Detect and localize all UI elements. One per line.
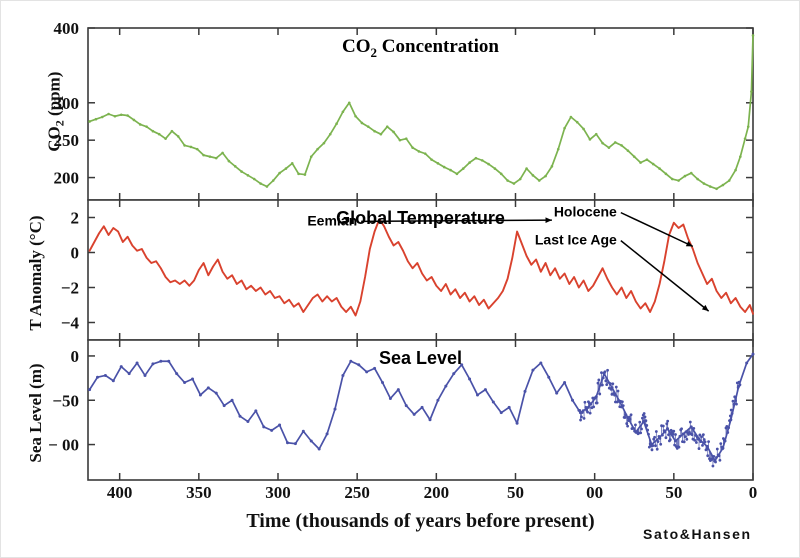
series-point-sealevel [500,411,503,414]
series-point-sealevel [476,393,479,396]
panel-title-sealevel: Sea Level [379,348,462,368]
series-point-co2 [525,167,528,170]
series-point-co2 [671,178,674,181]
series-point-sealevel [151,362,154,365]
series-point-co2 [652,163,655,166]
series-point-co2 [266,185,269,188]
series-point-sealevel [349,360,352,363]
annotation-label-0: Eemian [307,212,357,228]
series-point-co2 [101,116,104,119]
series-point-co2 [316,148,319,151]
series-point-sealevel [508,406,511,409]
ytick-label-temperature-3: −4 [61,314,80,333]
series-point-co2 [247,174,250,177]
series-point-co2 [532,174,535,177]
series-point-co2 [608,146,611,149]
series-point-co2 [323,142,326,145]
series-point-co2 [177,135,180,138]
ytick-label-sealevel-0: 0 [71,347,80,366]
series-point-co2 [120,113,123,116]
series-point-co2 [443,166,446,169]
series-point-sealevel [207,386,210,389]
series-point-co2 [595,133,598,136]
series-point-sealevel [239,415,242,418]
series-point-co2 [684,175,687,178]
series-point-co2 [500,173,503,176]
series-point-co2 [538,179,541,182]
series-point-co2 [107,113,110,116]
series-point-co2 [386,125,389,128]
series-point-co2 [744,137,747,140]
series-point-sealevel [112,379,115,382]
series-point-sealevel [294,442,297,445]
series-point-co2 [513,182,516,185]
annotation-label-2: Last Ice Age [535,232,617,248]
series-point-co2 [285,167,288,170]
ytick-label-co2-0: 400 [54,19,80,38]
series-point-co2 [696,178,699,181]
co2-axis-label-unit: (ppm) [44,72,63,121]
series-point-sealevel [531,369,534,372]
series-point-co2 [468,161,471,164]
series-point-co2 [209,155,212,158]
series-point-co2 [722,184,725,187]
series-point-co2 [633,155,636,158]
series-point-sealevel [429,418,432,421]
series-point-sealevel [96,376,99,379]
series-point-co2 [240,170,243,173]
series-point-co2 [202,154,205,157]
xtick-label-6: 00 [586,483,603,502]
panel-title-temperature: Global Temperature [336,208,505,228]
series-point-co2 [272,179,275,182]
series-point-co2 [752,34,755,37]
series-point-co2 [620,144,623,147]
series-point-sealevel [484,388,487,391]
series-point-sealevel [444,385,447,388]
series-point-co2 [221,152,224,155]
series-point-sealevel [492,401,495,404]
panel-title-co2: CO2 Concentration [342,36,499,60]
series-point-sealevel [413,413,416,416]
series-point-co2 [126,114,129,117]
series-point-co2 [399,139,402,142]
series-point-sealevel [167,360,170,363]
ytick-label-sealevel-1: −50 [52,391,79,410]
series-point-co2 [646,158,649,161]
series-point-sealevel [745,362,748,365]
series-point-co2 [481,159,484,162]
series-point-sealevel [341,374,344,377]
series-point-co2 [411,146,414,149]
paleoclimate-chart: 400300250200CO2 Concentration20−2−4Globa… [0,0,800,558]
series-point-co2 [354,115,357,118]
series-point-co2 [380,133,383,136]
panel-temperature: 20−2−4Global TemperatureEemianHoloceneLa… [61,200,753,340]
series-point-sealevel [436,399,439,402]
series-point-co2 [557,148,560,151]
series-point-co2 [739,155,742,158]
series-point-co2 [278,172,281,175]
series-point-sealevel [144,374,147,377]
series-point-sealevel [357,363,360,366]
series-point-sealevel [310,440,313,443]
series-point-co2 [506,179,509,182]
series-point-sealevel [159,360,162,363]
figure-container: 400300250200CO2 Concentration20−2−4Globa… [0,0,800,558]
series-point-co2 [171,130,174,133]
series-point-co2 [715,187,718,190]
series-point-sealevel [326,432,329,435]
series-point-co2 [734,169,737,172]
xtick-label-1: 350 [186,483,212,502]
series-point-sealevel [334,408,337,411]
ytick-label-temperature-1: 0 [71,244,80,263]
series-point-sealevel [365,370,368,373]
xtick-label-3: 250 [344,483,370,502]
series-point-co2 [183,144,186,147]
series-point-co2 [709,185,712,188]
series-point-sealevel [389,397,392,400]
ytick-label-temperature-0: 2 [71,209,80,228]
series-point-sealevel [563,381,566,384]
series-point-co2 [152,130,155,133]
series-point-sealevel [199,393,202,396]
series-point-co2 [430,158,433,161]
series-point-sealevel [381,381,384,384]
series-point-sealevel [136,362,139,365]
series-point-co2 [114,115,117,118]
series-point-co2 [405,137,408,140]
series-point-sealevel [286,441,289,444]
series-point-co2 [614,141,617,144]
series-point-co2 [95,118,98,121]
series-point-co2 [329,133,332,136]
series-point-co2 [677,179,680,182]
series-point-co2 [373,130,376,133]
co2-axis-label-sub: 2 [53,120,67,126]
series-point-sealevel [254,409,257,412]
ytick-label-sealevel-2: − 00 [48,436,79,455]
sealevel-axis-label: Sea Level (m) [26,328,46,498]
x-axis: 4003503002502005000500Time (thousands of… [107,483,757,532]
series-point-sealevel [215,392,218,395]
series-point-co2 [475,157,478,160]
series-point-co2 [658,167,661,170]
series-point-co2 [418,150,421,153]
series-point-co2 [551,165,554,168]
credit-text: Sato&Hansen [643,526,752,542]
series-point-co2 [601,142,604,145]
series-point-co2 [133,119,136,122]
series-point-co2 [544,175,547,178]
xtick-label-8: 0 [749,483,758,502]
series-point-sealevel [468,377,471,380]
series-point-co2 [582,128,585,131]
series-point-co2 [304,173,307,176]
series-point-co2 [228,160,231,163]
xtick-label-4: 200 [424,483,450,502]
series-point-sealevel [231,399,234,402]
series-point-sealevel [539,362,542,365]
series-point-co2 [335,122,338,125]
series-point-sealevel [547,376,550,379]
series-point-co2 [164,137,167,140]
series-point-co2 [627,149,630,152]
series-point-sealevel [421,406,424,409]
series-point-co2 [392,131,395,134]
series-point-co2 [519,178,522,181]
series-point-sealevel [104,374,107,377]
xtick-label-7: 50 [665,483,682,502]
series-point-sealevel [88,388,91,391]
series-point-co2 [367,125,370,128]
co2-axis-label: CO2 (ppm) [44,42,67,182]
series-point-co2 [361,122,364,125]
series-point-sealevel [452,372,455,375]
xtick-label-2: 300 [265,483,291,502]
series-point-co2 [449,169,452,172]
series-point-co2 [424,152,427,155]
series-point-co2 [437,162,440,165]
series-point-co2 [665,173,668,176]
series-point-sealevel [120,365,123,368]
ytick-label-temperature-2: −2 [61,279,79,298]
series-point-sealevel [555,392,558,395]
series-point-co2 [750,90,753,93]
series-point-sealevel [175,372,178,375]
series-point-sealevel [278,424,281,427]
series-point-sealevel [405,404,408,407]
xtick-label-5: 50 [507,483,524,502]
panel-sealevel: 0−50− 00Sea Level [48,340,754,480]
series-point-sealevel [246,420,249,423]
series-point-co2 [348,101,351,104]
series-point-co2 [215,157,218,160]
series-point-co2 [494,167,497,170]
series-point-sealevel [524,390,527,393]
series-point-co2 [589,138,592,141]
series-point-co2 [570,116,573,119]
series-point-sealevel [262,425,265,428]
annotation-label-1: Holocene [554,204,617,220]
series-point-co2 [88,120,91,123]
series-point-co2 [310,155,313,158]
series-point-co2 [158,133,161,136]
series-point-co2 [234,165,237,168]
x-axis-title: Time (thousands of years before present) [246,510,594,532]
series-point-co2 [576,121,579,124]
series-point-sealevel [571,399,574,402]
series-point-co2 [342,110,345,113]
series-point-co2 [297,173,300,176]
series-point-co2 [196,148,199,151]
xtick-label-0: 400 [107,483,133,502]
panel-co2: 400300250200CO2 Concentration [54,19,755,200]
series-point-sealevel [752,353,755,356]
series-point-sealevel [302,430,305,433]
series-point-sealevel [128,372,131,375]
series-point-sealevel [183,381,186,384]
series-point-co2 [139,123,142,126]
series-point-sealevel [318,447,321,450]
series-point-co2 [145,125,148,128]
series-point-co2 [462,167,465,170]
series-point-co2 [639,161,642,164]
series-point-co2 [747,125,750,128]
series-point-co2 [703,182,706,185]
series-point-sealevel [373,367,376,370]
series-point-co2 [487,163,490,166]
series-point-sealevel [270,429,273,432]
co2-axis-label-main: CO [44,126,63,152]
series-point-co2 [563,127,566,130]
series-point-sealevel [191,377,194,380]
series-point-co2 [456,173,459,176]
series-point-co2 [728,179,731,182]
series-point-co2 [690,172,693,175]
series-point-sealevel [516,422,519,425]
series-point-co2 [259,182,262,185]
series-point-co2 [253,178,256,181]
series-point-sealevel [223,404,226,407]
series-point-co2 [190,146,193,149]
series-point-sealevel [397,388,400,391]
series-point-co2 [291,162,294,165]
